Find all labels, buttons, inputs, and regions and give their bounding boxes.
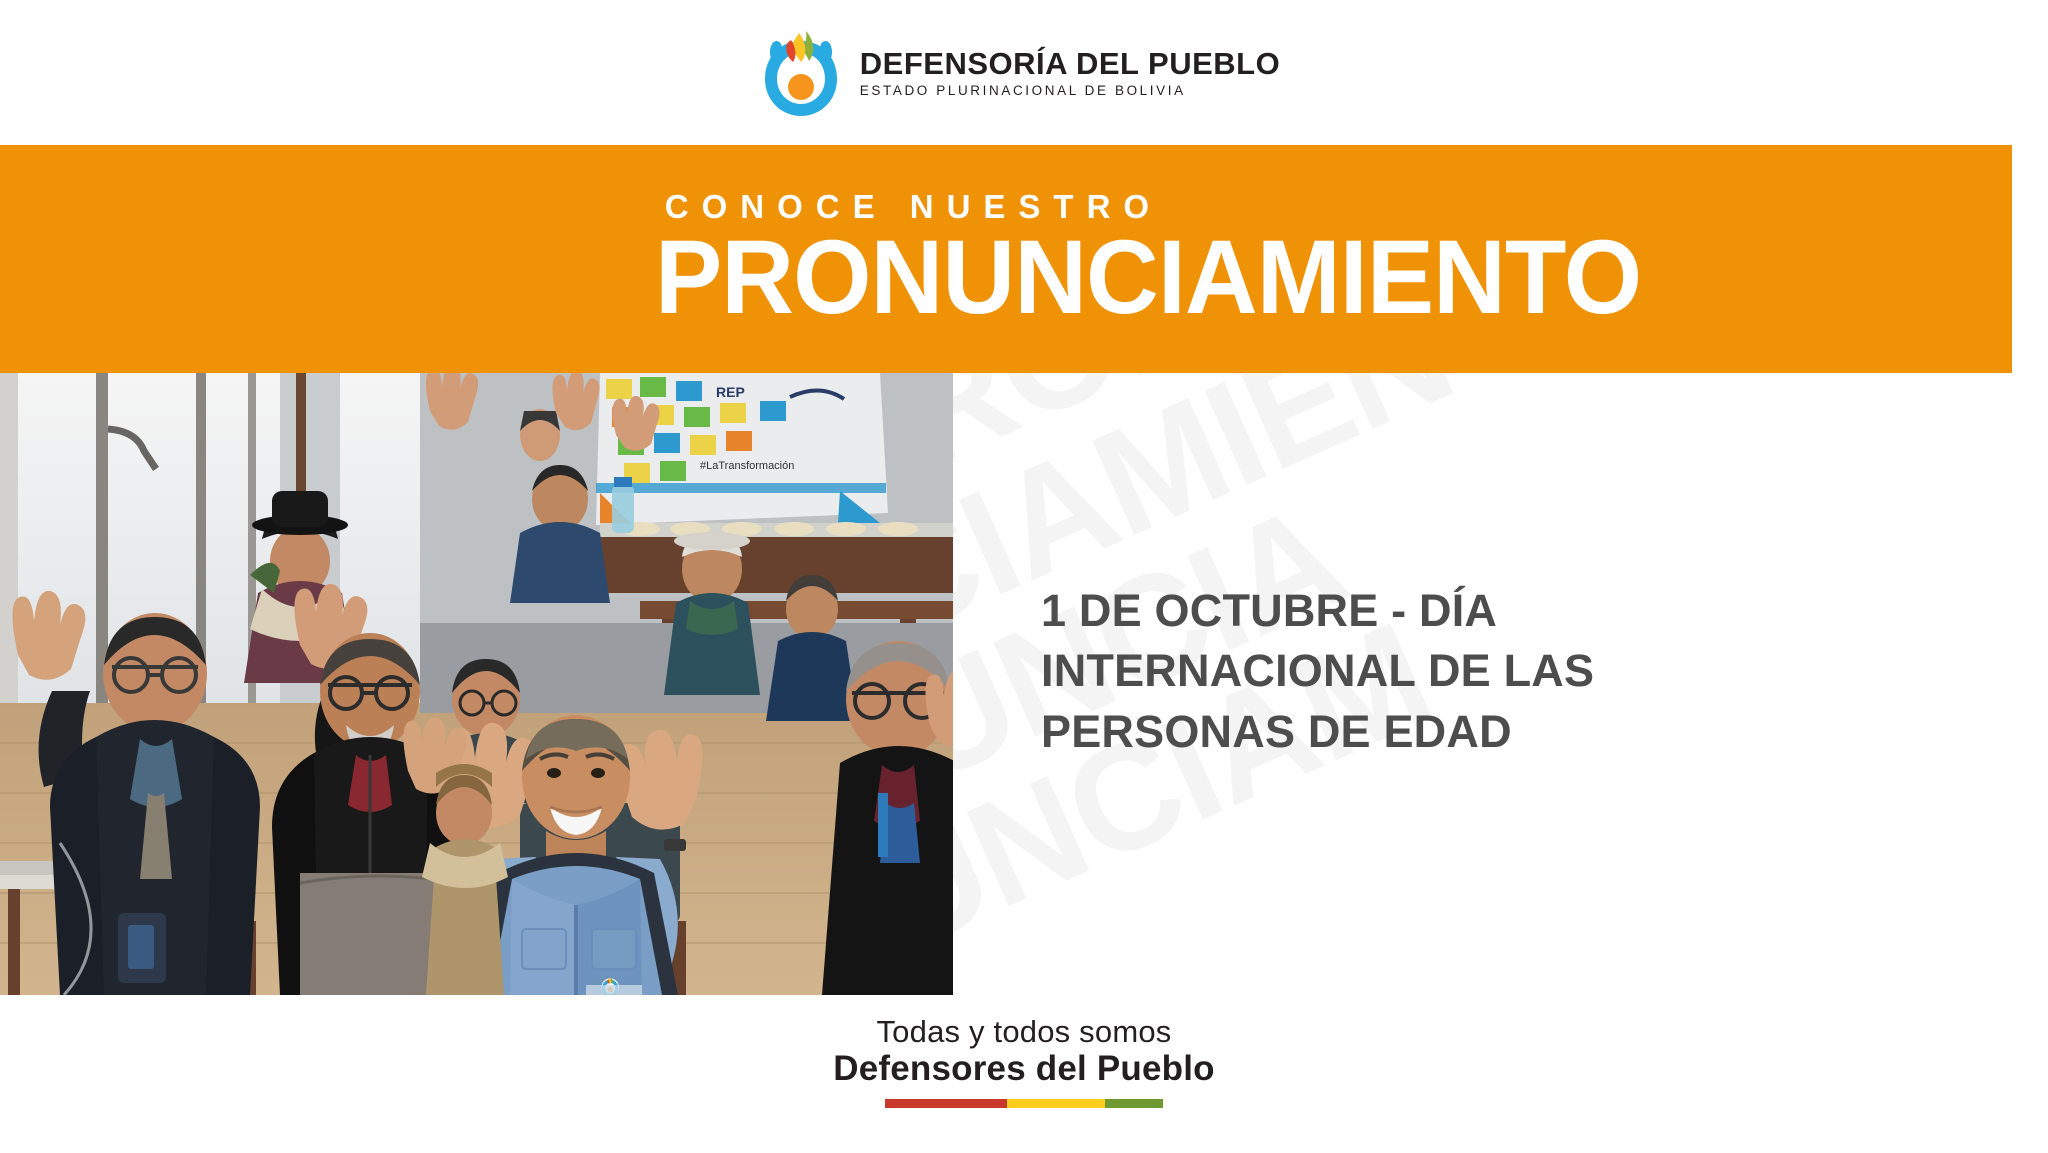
orange-banner: CONOCE NUESTRO PRONUNCIAMIENTO [0, 145, 2012, 373]
tricolor-segment-yellow [1007, 1099, 1104, 1108]
footer-tagline-top: Todas y todos somos [876, 1015, 1171, 1049]
defensoria-flame-hands-logo-icon [756, 27, 846, 119]
logo-subtitle: ESTADO PLURINACIONAL DE BOLIVIA [860, 84, 1280, 98]
event-photo: #LaTransformación REP [0, 373, 953, 995]
watermark-line: TOPRONUNCIA [940, 373, 2048, 610]
main-content: ONUNCIA NTOPRONUNCI TOPRONUNCIA RONUNCIA… [0, 373, 2048, 1013]
tricolor-segment-green [1105, 1099, 1163, 1108]
footer-tagline-bottom: Defensores del Pueblo [833, 1050, 1215, 1089]
banner-text-block: CONOCE NUESTRO PRONUNCIAMIENTO [655, 145, 1682, 373]
tricolor-bar [885, 1099, 1163, 1108]
event-title: 1 DE OCTUBRE - DÍA INTERNACIONAL DE LAS … [1041, 581, 1721, 762]
page-header: DEFENSORÍA DEL PUEBLO ESTADO PLURINACION… [0, 0, 2048, 145]
logo-title: DEFENSORÍA DEL PUEBLO [860, 48, 1280, 79]
brand-wordmark: DEFENSORÍA DEL PUEBLO ESTADO PLURINACION… [860, 48, 1280, 98]
watermark-line: ONUNCIA [940, 373, 2048, 436]
banner-headline: PRONUNCIAMIENTO [655, 229, 1641, 328]
page-footer: Todas y todos somos Defensores del Puebl… [0, 1013, 2048, 1153]
brand-lockup: DEFENSORÍA DEL PUEBLO ESTADO PLURINACION… [756, 27, 1280, 119]
tricolor-segment-red [885, 1099, 1007, 1108]
